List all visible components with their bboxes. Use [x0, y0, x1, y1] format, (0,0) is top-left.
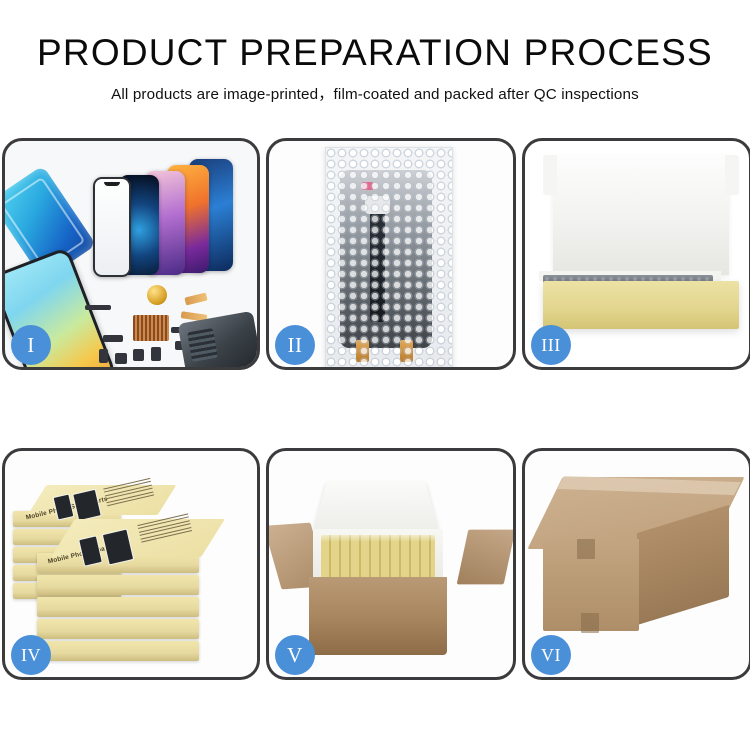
page-title: PRODUCT PREPARATION PROCESS: [0, 34, 750, 73]
phone-screen-1: [93, 177, 131, 277]
packed-retail-boxes: [321, 535, 435, 579]
carton-flap-right: [457, 530, 513, 585]
bubble-wrap-bag-icon: [325, 147, 453, 367]
connector-icon-right: [400, 340, 413, 362]
process-step-grid: I II III: [0, 138, 750, 680]
part-camera-icon: [115, 353, 127, 364]
phone-notch-icon: [104, 182, 120, 186]
process-step-panel-4[interactable]: Mobile Phone Spare Parts Mobile Phone Sp…: [2, 448, 260, 680]
spare-parts-group: [85, 283, 257, 367]
process-step-panel-2[interactable]: II: [266, 138, 516, 370]
page-subtitle: All products are image-printed，film-coat…: [0, 82, 750, 104]
step-badge-2: II: [275, 325, 315, 365]
phone-display-fan: [67, 157, 257, 287]
step-badge-3: III: [531, 325, 571, 365]
process-step-panel-1[interactable]: I: [2, 138, 260, 370]
qc-sticker-icon: [362, 182, 373, 190]
open-foam-lid-icon: [314, 481, 439, 531]
part-button-icon: [133, 349, 144, 361]
flex-cable-icon-1: [184, 292, 207, 305]
retail-box-front-3: [37, 597, 199, 617]
part-sensor-icon: [151, 347, 161, 361]
foam-lid-icon: [553, 155, 729, 275]
page-header: PRODUCT PREPARATION PROCESS All products…: [0, 0, 750, 104]
carton-body-icon: [309, 577, 447, 655]
process-step-panel-6[interactable]: VI: [522, 448, 750, 680]
shield-mesh-icon: [133, 315, 169, 341]
process-step-panel-3[interactable]: III: [522, 138, 750, 370]
yellow-tray-box-icon: [543, 281, 739, 329]
tape-tab-upper: [577, 539, 595, 559]
process-step-panel-5[interactable]: V: [266, 448, 516, 680]
part-bracket-icon: [103, 335, 123, 342]
retail-box-front-4: [37, 619, 199, 639]
step-badge-5: V: [275, 635, 315, 675]
retail-box-stack: Mobile Phone Spare Parts Mobile Phone Sp…: [9, 467, 233, 663]
retail-box-front-2: [37, 575, 199, 595]
retail-box-front-5: [37, 641, 199, 661]
connector-icon-left: [356, 340, 369, 362]
part-speaker-icon: [85, 305, 111, 310]
part-sim-tray-icon: [99, 349, 108, 363]
tape-tab-lower: [581, 613, 599, 633]
step-badge-1: I: [11, 325, 51, 365]
screen-flex-cable-icon: [370, 210, 385, 322]
step-badge-6: VI: [531, 635, 571, 675]
step-badge-4: IV: [11, 635, 51, 675]
vibration-motor-icon: [147, 285, 167, 305]
